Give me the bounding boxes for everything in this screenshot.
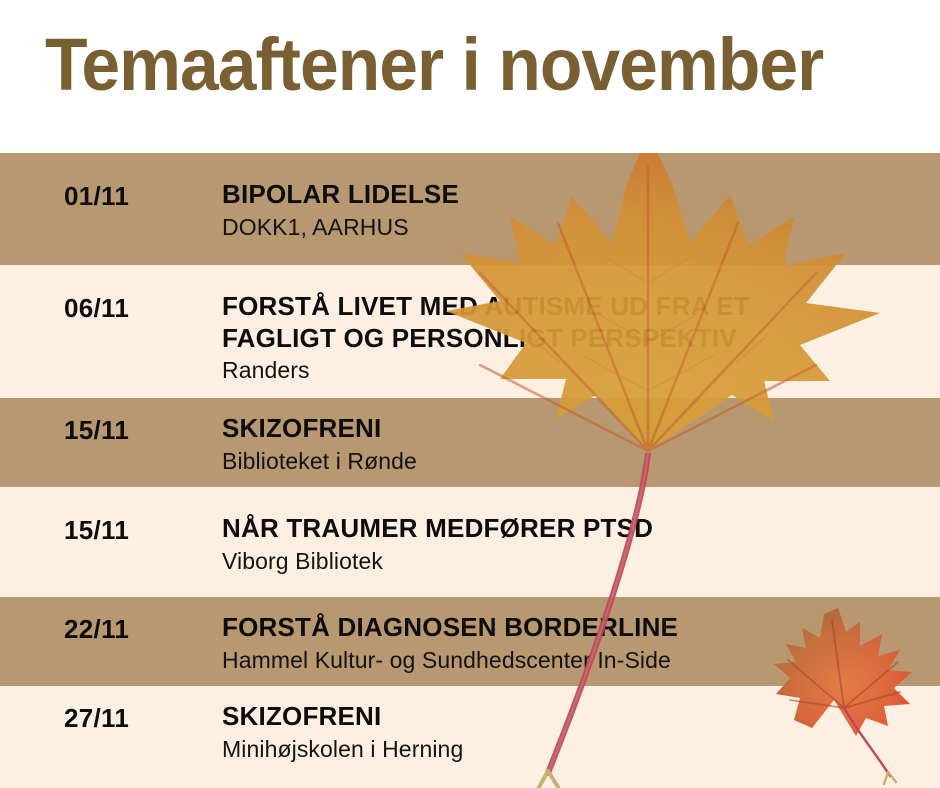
event-body: BIPOLAR LIDELSE DOKK1, AARHUS bbox=[222, 179, 930, 241]
list-item[interactable]: 15/11 SKIZOFRENI Biblioteket i Rønde bbox=[0, 398, 940, 487]
event-body: NÅR TRAUMER MEDFØRER PTSD Viborg Bibliot… bbox=[222, 513, 930, 575]
page-title: Temaaftener i november bbox=[45, 28, 823, 102]
list-item[interactable]: 15/11 NÅR TRAUMER MEDFØRER PTSD Viborg B… bbox=[0, 487, 940, 597]
event-date: 27/11 bbox=[64, 703, 129, 734]
event-body: FORSTÅ DIAGNOSEN BORDERLINE Hammel Kultu… bbox=[222, 612, 930, 674]
poster-header: Temaaftener i november bbox=[0, 0, 940, 153]
event-date: 01/11 bbox=[64, 181, 129, 212]
list-item[interactable]: 22/11 FORSTÅ DIAGNOSEN BORDERLINE Hammel… bbox=[0, 597, 940, 686]
event-date: 15/11 bbox=[64, 415, 129, 446]
poster-canvas: Temaaftener i november 01/11 BIPOLAR LID… bbox=[0, 0, 940, 788]
event-date: 22/11 bbox=[64, 614, 129, 645]
event-title: FORSTÅ DIAGNOSEN BORDERLINE bbox=[222, 612, 930, 644]
event-venue: DOKK1, AARHUS bbox=[222, 213, 930, 242]
event-body: FORSTÅ LIVET MED AUTISME UD FRA ET FAGLI… bbox=[222, 291, 930, 385]
event-venue: Hammel Kultur- og Sundhedscenter In-Side bbox=[222, 646, 930, 675]
event-body: SKIZOFRENI Biblioteket i Rønde bbox=[222, 413, 930, 475]
list-item[interactable]: 06/11 FORSTÅ LIVET MED AUTISME UD FRA ET… bbox=[0, 265, 940, 398]
event-venue: Minihøjskolen i Herning bbox=[222, 735, 930, 764]
event-body: SKIZOFRENI Minihøjskolen i Herning bbox=[222, 701, 930, 763]
event-date: 15/11 bbox=[64, 515, 129, 546]
event-title: SKIZOFRENI bbox=[222, 413, 930, 445]
event-date: 06/11 bbox=[64, 293, 129, 324]
event-title: SKIZOFRENI bbox=[222, 701, 930, 733]
list-item[interactable]: 27/11 SKIZOFRENI Minihøjskolen i Herning bbox=[0, 686, 940, 788]
event-venue: Biblioteket i Rønde bbox=[222, 447, 930, 476]
event-title: FORSTÅ LIVET MED AUTISME UD FRA ET FAGLI… bbox=[222, 291, 930, 354]
event-title: BIPOLAR LIDELSE bbox=[222, 179, 930, 211]
event-list: 01/11 BIPOLAR LIDELSE DOKK1, AARHUS 06/1… bbox=[0, 153, 940, 788]
event-venue: Randers bbox=[222, 356, 930, 385]
event-venue: Viborg Bibliotek bbox=[222, 547, 930, 576]
event-title: NÅR TRAUMER MEDFØRER PTSD bbox=[222, 513, 930, 545]
list-item[interactable]: 01/11 BIPOLAR LIDELSE DOKK1, AARHUS bbox=[0, 153, 940, 265]
